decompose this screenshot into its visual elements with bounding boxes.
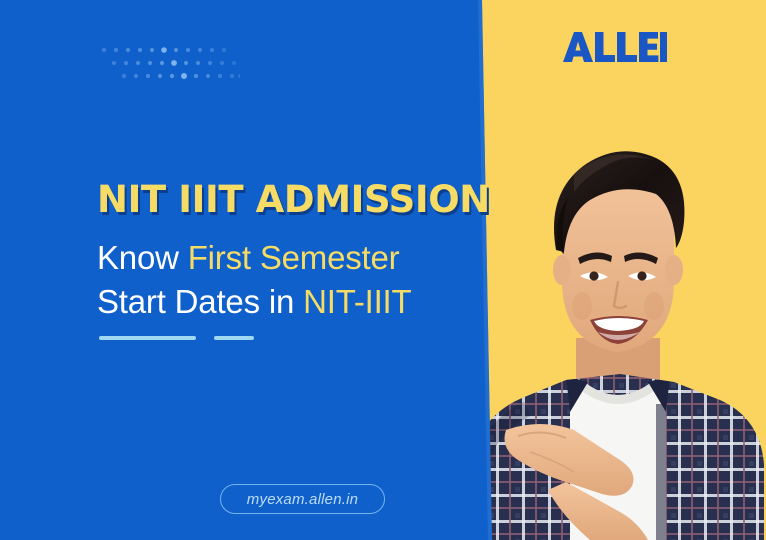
allen-wordmark-icon[interactable] [563,30,667,64]
student-photo-icon [470,130,766,540]
dot-grid-icon [100,44,240,82]
accent-rule-short-icon [214,336,254,340]
subheadline-line-1: Know First Semester [97,236,477,280]
accent-rule-long-icon [99,336,196,340]
page-title: NIT IIIT ADMISSION [97,178,477,222]
subheadline-line-2: Start Dates in NIT-IIIT [97,280,477,324]
subheadline-line-1-highlight: First Semester [188,239,400,276]
accent-rules [99,336,254,340]
headline-block: NIT IIIT ADMISSION Know First Semester S… [97,178,477,324]
promo-banner: NIT IIIT ADMISSION Know First Semester S… [0,0,766,540]
subheadline-line-2-highlight: NIT-IIIT [303,283,411,320]
subheadline-line-2-plain: Start Dates in [97,283,303,320]
website-url-badge[interactable]: myexam.allen.in [220,484,385,514]
subheadline-line-1-plain: Know [97,239,188,276]
